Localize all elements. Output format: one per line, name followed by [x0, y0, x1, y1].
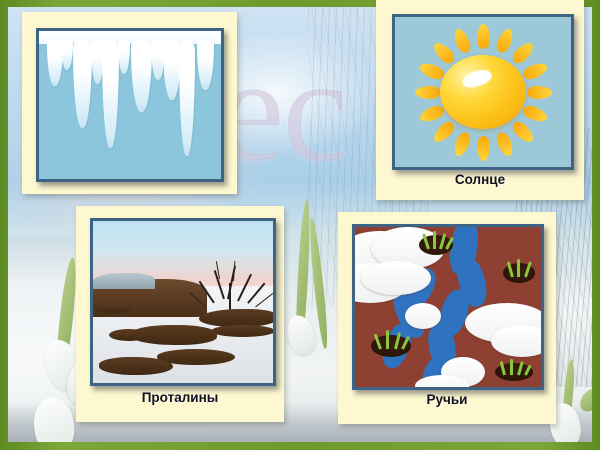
- stream-snow-drift: [491, 325, 544, 357]
- sun-disc: [440, 55, 526, 129]
- stream-snow-drift: [415, 375, 469, 390]
- sun-ray: [415, 86, 440, 99]
- sun-ray: [477, 24, 490, 49]
- stream-snow-drift: [361, 261, 431, 295]
- caption-thawed-patches: Проталины: [76, 390, 284, 405]
- grass-blade: [510, 359, 513, 375]
- card-thawed-patches[interactable]: Проталины: [76, 206, 284, 422]
- card-sun[interactable]: Солнце: [376, 0, 584, 200]
- thawed-patches-illustration[interactable]: [90, 218, 276, 386]
- sun-highlight: [461, 67, 494, 91]
- caption-streams: Ручьи: [338, 392, 556, 407]
- icicles-illustration[interactable]: [36, 28, 224, 182]
- thaw-hill-snowcap: [93, 273, 155, 289]
- slide-canvas: ес: [0, 0, 600, 450]
- card-streams[interactable]: Ручьи: [338, 212, 556, 424]
- thawed-patch: [109, 329, 149, 341]
- streams-illustration[interactable]: [352, 224, 544, 390]
- grass-blade: [386, 330, 389, 349]
- grass-blade: [433, 231, 436, 249]
- card-icicles[interactable]: [22, 12, 237, 194]
- thawed-patch: [99, 357, 173, 375]
- sun-illustration[interactable]: [392, 14, 574, 170]
- thawed-patch: [93, 303, 133, 313]
- stream-snow-drift: [405, 303, 441, 329]
- thawed-patch: [211, 325, 275, 337]
- caption-sun: Солнце: [376, 172, 584, 187]
- sun-ray: [477, 136, 490, 161]
- sun-ray: [527, 86, 552, 99]
- grass-blade: [517, 259, 520, 277]
